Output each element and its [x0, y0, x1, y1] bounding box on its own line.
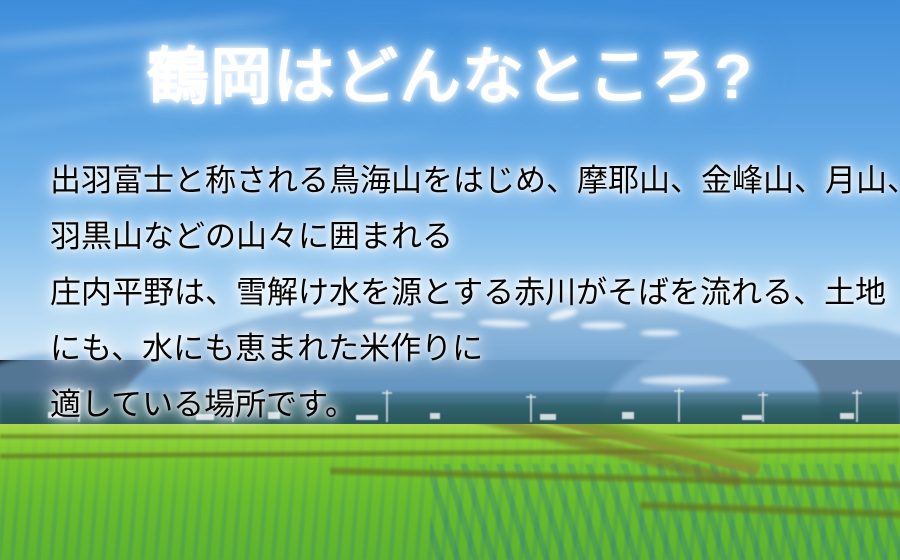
banner-title: 鶴岡はどんなところ?	[0, 44, 900, 112]
body-line-4: にも、水にも恵まれた米作りに	[50, 320, 870, 376]
body-line-5: 適している場所です。	[50, 376, 870, 432]
text-overlay: 鶴岡はどんなところ? 出羽富士と称される鳥海山をはじめ、摩耶山、金峰山、月山、 …	[0, 0, 900, 560]
banner-body-text: 出羽富士と称される鳥海山をはじめ、摩耶山、金峰山、月山、 羽黒山などの山々に囲ま…	[50, 152, 870, 432]
body-line-1: 出羽富士と称される鳥海山をはじめ、摩耶山、金峰山、月山、	[50, 152, 870, 208]
body-line-3: 庄内平野は、雪解け水を源とする赤川がそばを流れる、土地	[50, 264, 870, 320]
body-line-2: 羽黒山などの山々に囲まれる	[50, 208, 870, 264]
tsuruoka-info-banner: 鶴岡はどんなところ? 出羽富士と称される鳥海山をはじめ、摩耶山、金峰山、月山、 …	[0, 0, 900, 560]
